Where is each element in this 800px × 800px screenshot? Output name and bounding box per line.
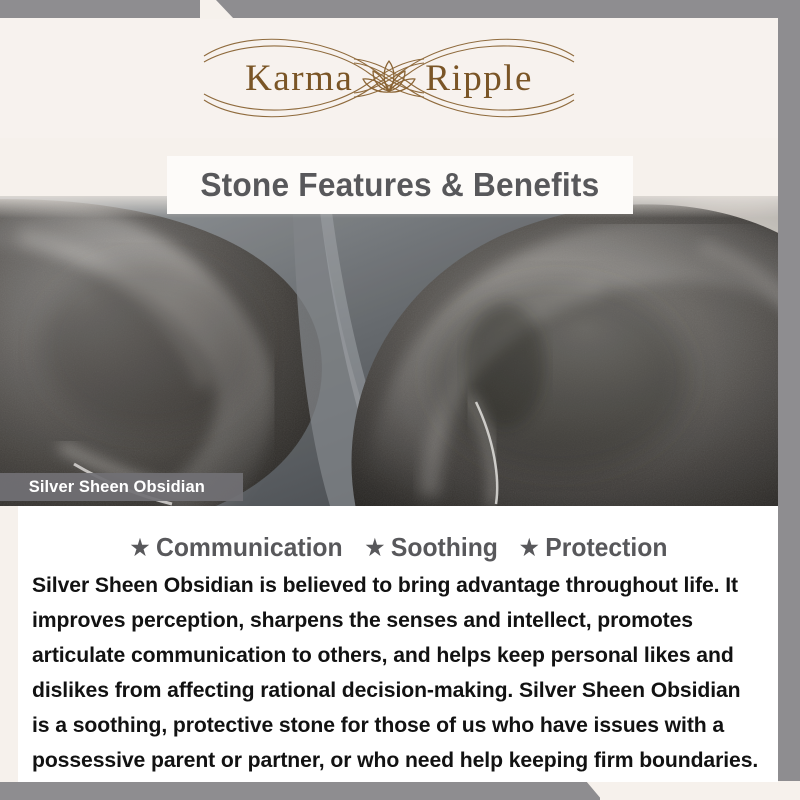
- star-icon: ★: [366, 537, 385, 559]
- benefit-label: Soothing: [391, 532, 498, 563]
- brand-name-left: Karma: [241, 57, 357, 100]
- benefits-row: ★ Communication ★ Soothing ★ Protection: [18, 532, 778, 563]
- stone-photo: [0, 196, 778, 506]
- benefit-protection: ★ Protection: [520, 532, 668, 563]
- brand-name-right: Ripple: [421, 57, 537, 100]
- description-text: Silver Sheen Obsidian is believed to bri…: [32, 568, 763, 778]
- frame-bottom-right-fill: [600, 781, 800, 800]
- poster-canvas: Karma Ripple: [0, 0, 800, 800]
- stone-name-text: Silver Sheen Obsidian: [29, 477, 205, 497]
- stone-name-label: Silver Sheen Obsidian: [0, 473, 243, 501]
- stone-photo-art: [0, 196, 778, 506]
- star-icon: ★: [131, 537, 150, 559]
- page-title: Stone Features & Benefits: [200, 166, 599, 204]
- section-banner: Stone Features & Benefits: [167, 156, 633, 214]
- star-icon: ★: [520, 537, 539, 559]
- benefit-label: Communication: [156, 532, 343, 563]
- brand-wordmark: Karma Ripple: [241, 55, 537, 101]
- brand-header: Karma Ripple: [0, 18, 778, 138]
- description-card: ★ Communication ★ Soothing ★ Protection …: [18, 506, 778, 782]
- benefit-communication: ★ Communication: [131, 532, 343, 563]
- lotus-icon: [357, 55, 421, 101]
- frame-notch-top: [200, 0, 240, 19]
- benefit-label: Protection: [545, 532, 667, 563]
- brand-logo: Karma Ripple: [174, 30, 604, 126]
- benefit-soothing: ★ Soothing: [366, 532, 498, 563]
- poster-page: Karma Ripple: [0, 18, 778, 782]
